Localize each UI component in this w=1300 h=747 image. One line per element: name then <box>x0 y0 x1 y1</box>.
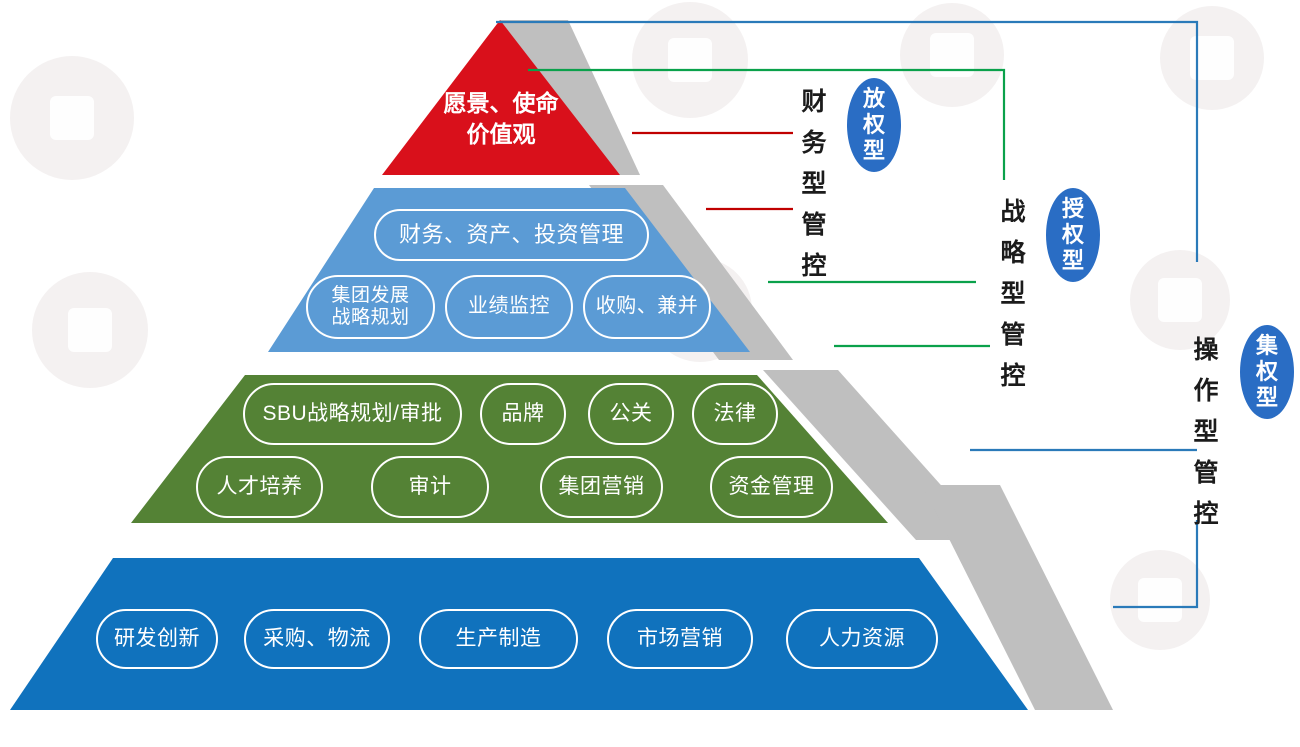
control-mode-label-operational: 操 作 型 管 控 <box>1191 330 1221 535</box>
pill-rd-innovation[interactable]: 研发创新 <box>96 609 218 669</box>
pill-production-manufacturing[interactable]: 生产制造 <box>419 609 578 669</box>
label-char: 财 <box>799 82 829 123</box>
badge-char: 权 <box>1062 222 1084 248</box>
label-char: 控 <box>998 356 1028 397</box>
pill-acquisition-merger[interactable]: 收购、兼并 <box>583 275 711 339</box>
label-char: 管 <box>1191 453 1221 494</box>
label-char: 型 <box>799 164 829 205</box>
badge-char: 授 <box>1062 196 1084 222</box>
apex-label: 愿景、使命 价值观 <box>408 88 594 150</box>
control-mode-label-strategic: 战 略 型 管 控 <box>998 192 1028 397</box>
label-char: 控 <box>1191 494 1221 535</box>
label-char: 控 <box>799 246 829 287</box>
pill-group-development-strategy[interactable]: 集团发展 战略规划 <box>306 275 435 339</box>
label-char: 操 <box>1191 330 1221 371</box>
label-char: 型 <box>1191 412 1221 453</box>
pill-fund-management[interactable]: 资金管理 <box>710 456 833 518</box>
pill-procurement-logistics[interactable]: 采购、物流 <box>244 609 390 669</box>
label-char: 战 <box>998 192 1028 233</box>
control-mode-label-financial: 财 务 型 管 控 <box>799 82 829 287</box>
pill-sbu-strategy-approval[interactable]: SBU战略规划/审批 <box>243 383 462 445</box>
badge-char: 集 <box>1256 333 1278 359</box>
operational-line-bottom <box>1113 520 1197 607</box>
label-char: 管 <box>799 205 829 246</box>
pill-brand[interactable]: 品牌 <box>480 383 566 445</box>
pill-audit[interactable]: 审计 <box>371 456 489 518</box>
badge-char: 型 <box>863 138 885 164</box>
badge-char: 放 <box>863 86 885 112</box>
pill-group-marketing[interactable]: 集团营销 <box>540 456 663 518</box>
badge-decentralized[interactable]: 放 权 型 <box>847 78 901 172</box>
label-char: 务 <box>799 123 829 164</box>
pill-market-marketing[interactable]: 市场营销 <box>607 609 753 669</box>
label-char: 作 <box>1191 371 1221 412</box>
pill-performance-monitoring[interactable]: 业绩监控 <box>445 275 573 339</box>
pill-human-resources[interactable]: 人力资源 <box>786 609 938 669</box>
badge-char: 权 <box>1256 359 1278 385</box>
label-char: 型 <box>998 274 1028 315</box>
badge-char: 型 <box>1062 248 1084 274</box>
badge-centralized[interactable]: 集 权 型 <box>1240 325 1294 419</box>
label-char: 略 <box>998 233 1028 274</box>
diagram-canvas: 财务、资产、投资管理 集团发展 战略规划 业绩监控 收购、兼并 SBU战略规划/… <box>0 0 1300 747</box>
pill-finance-asset-investment[interactable]: 财务、资产、投资管理 <box>374 209 649 261</box>
badge-delegated[interactable]: 授 权 型 <box>1046 188 1100 282</box>
pill-public-relations[interactable]: 公关 <box>588 383 674 445</box>
badge-char: 型 <box>1256 385 1278 411</box>
badge-char: 权 <box>863 112 885 138</box>
label-char: 管 <box>998 315 1028 356</box>
pill-legal[interactable]: 法律 <box>692 383 778 445</box>
pill-talent-development[interactable]: 人才培养 <box>196 456 323 518</box>
